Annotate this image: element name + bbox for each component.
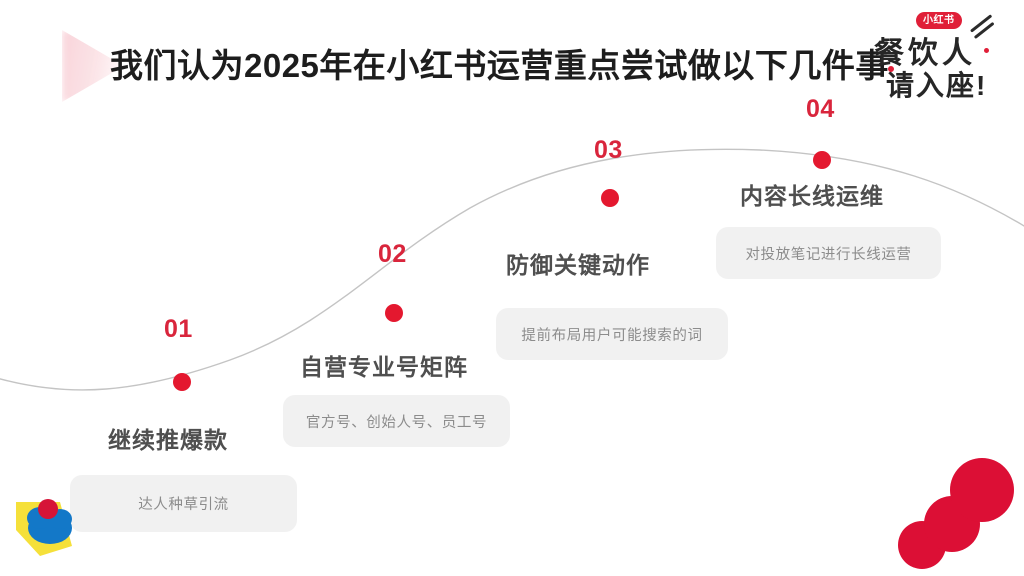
milestone-description: 官方号、创始人号、员工号 [283, 395, 510, 447]
milestone-number: 03 [594, 136, 623, 165]
brand-logo: 小红书 餐饮人 请入座! [872, 6, 1002, 110]
milestone-dot [385, 304, 403, 322]
logo-badge-xiaohongshu: 小红书 [916, 12, 962, 29]
milestone-dot [813, 151, 831, 169]
decoration-bottom-left [10, 486, 86, 566]
milestone-heading: 内容长线运维 [740, 177, 884, 211]
milestone-dot [601, 189, 619, 207]
milestone-number: 01 [164, 315, 193, 344]
milestone-description: 对投放笔记进行长线运营 [716, 227, 941, 279]
page-title: 我们认为2025年在小红书运营重点尝试做以下几件事 [110, 46, 889, 86]
logo-line-2: 请入座! [886, 64, 987, 104]
milestone-dot [173, 373, 191, 391]
slide-canvas: 我们认为2025年在小红书运营重点尝试做以下几件事 小红书 餐饮人 请入座! 0… [0, 0, 1024, 576]
milestone-description: 达人种草引流 [70, 475, 297, 532]
logo-accent-dot [984, 48, 989, 53]
milestone-heading: 继续推爆款 [108, 421, 228, 455]
milestone-description: 提前布局用户可能搜索的词 [496, 308, 728, 360]
milestone-heading: 防御关键动作 [506, 246, 650, 280]
milestone-number: 04 [806, 95, 835, 124]
milestone-number: 02 [378, 240, 407, 269]
decoration-bottom-right [886, 452, 1016, 572]
logo-accent-dot [888, 66, 894, 72]
milestone-heading: 自营专业号矩阵 [300, 348, 468, 382]
